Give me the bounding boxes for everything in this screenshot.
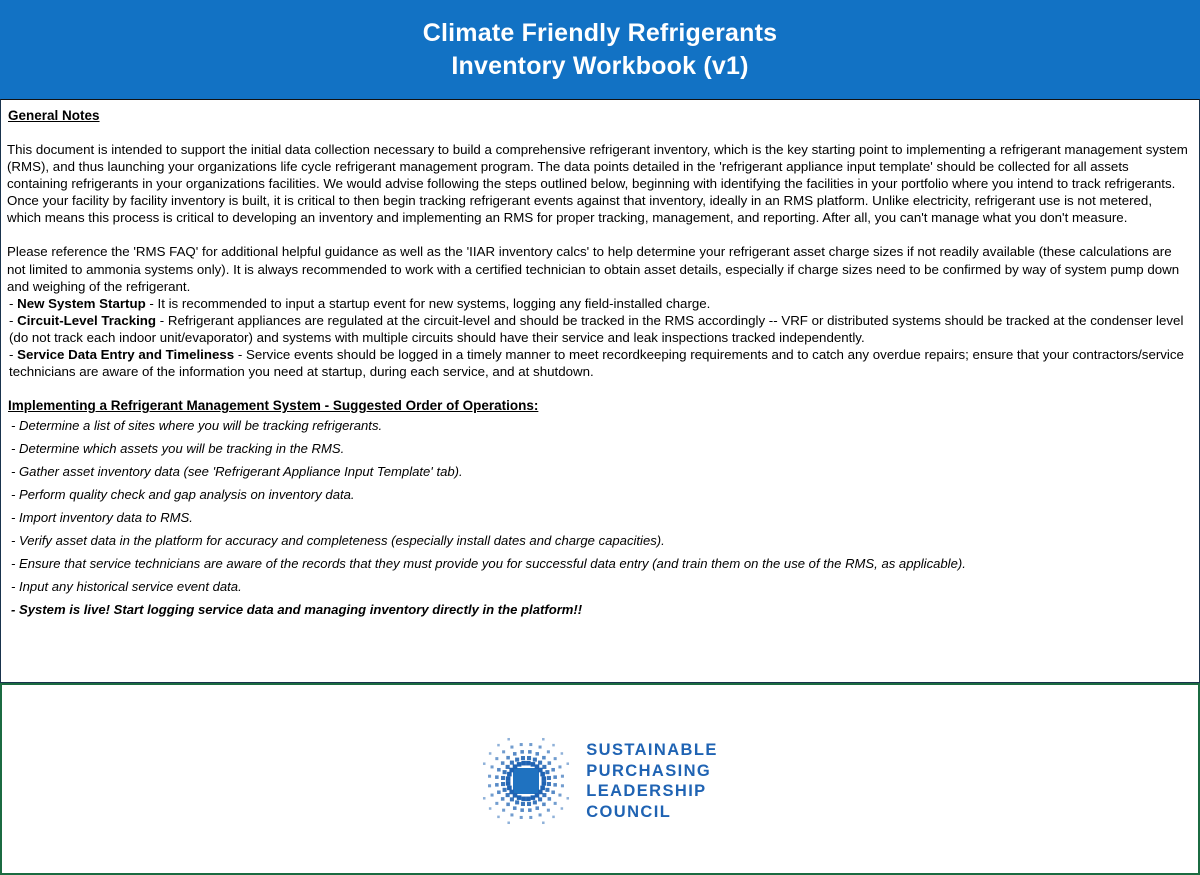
spc-logo-line-1: SUSTAINABLE [586,740,718,761]
bullet-label: Circuit-Level Tracking [17,313,156,328]
notes-paragraph-1: This document is intended to support the… [7,141,1191,226]
bullet-label: New System Startup [17,296,146,311]
bullet-prefix: - [9,347,17,362]
notes-spacer-2 [7,226,1191,243]
operations-heading: Implementing a Refrigerant Management Sy… [8,397,1191,414]
operations-item-6: - Verify asset data in the platform for … [7,529,1191,552]
notes-spacer-1 [7,124,1191,141]
spc-logo: SUSTAINABLE PURCHASING LEADERSHIP COUNCI… [482,737,718,825]
workbook-title-line-1: Climate Friendly Refrigerants [423,17,778,50]
operations-item-1: - Determine a list of sites where you wi… [7,414,1191,437]
operations-item-2: - Determine which assets you will be tra… [7,437,1191,460]
radiating-square-burst-icon [482,737,570,825]
notes-bullet-circuit-level-tracking: - Circuit-Level Tracking - Refrigerant a… [7,312,1191,346]
notes-paragraph-2: Please reference the 'RMS FAQ' for addit… [7,243,1191,294]
general-notes-panel: General Notes This document is intended … [0,99,1200,683]
workbook-title-line-2: Inventory Workbook (v1) [451,50,748,83]
notes-bullet-service-data-entry: - Service Data Entry and Timeliness - Se… [7,346,1191,380]
operations-item-8: - Input any historical service event dat… [7,575,1191,598]
logo-panel: SUSTAINABLE PURCHASING LEADERSHIP COUNCI… [0,683,1200,875]
notes-spacer-3 [7,380,1191,397]
general-notes-heading: General Notes [8,107,1191,124]
spc-logo-text: SUSTAINABLE PURCHASING LEADERSHIP COUNCI… [586,740,718,822]
bullet-prefix: - [9,313,17,328]
bullet-prefix: - [9,296,17,311]
operations-item-7: - Ensure that service technicians are aw… [7,552,1191,575]
operations-item-9: - System is live! Start logging service … [7,598,1191,621]
bullet-body: - Refrigerant appliances are regulated a… [9,313,1183,345]
bullet-label: Service Data Entry and Timeliness [17,347,234,362]
workbook-header-banner: Climate Friendly Refrigerants Inventory … [0,0,1200,99]
bullet-body: - It is recommended to input a startup e… [146,296,711,311]
spc-logo-line-2: PURCHASING [586,761,718,782]
notes-bullet-new-system-startup: - New System Startup - It is recommended… [7,295,1191,312]
operations-item-3: - Gather asset inventory data (see 'Refr… [7,460,1191,483]
operations-item-5: - Import inventory data to RMS. [7,506,1191,529]
spc-logo-line-4: COUNCIL [586,802,718,823]
operations-item-4: - Perform quality check and gap analysis… [7,483,1191,506]
spc-logo-line-3: LEADERSHIP [586,781,718,802]
